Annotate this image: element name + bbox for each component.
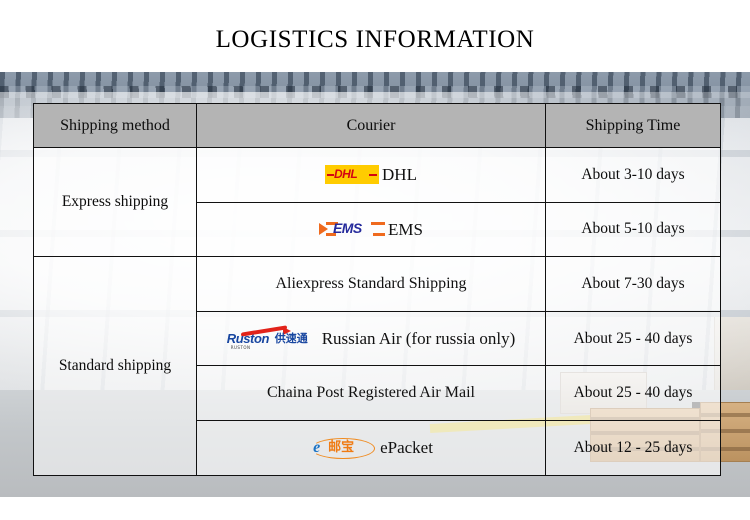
shipping-time-cell: About 25 - 40 days [546,366,721,421]
ruston-logo-subtext: RUSTON [231,345,251,350]
dhl-logo-dash-left [327,174,334,176]
shipping-time-cell: About 3-10 days [546,148,721,203]
courier-content: Aliexpress Standard Shipping [201,276,541,292]
ems-logo-bar [371,222,385,225]
ems-logo-bar [373,233,385,236]
courier-content: e 邮宝 ePacket [201,436,541,460]
table-head: Shipping method Courier Shipping Time [34,104,721,148]
logistics-table: Shipping method Courier Shipping Time Ex… [33,103,721,476]
courier-name: EMS [388,221,423,238]
shipping-time-cell: About 12 - 25 days [546,420,721,475]
ems-logo: EMS [319,219,385,239]
logistics-table-wrapper: Shipping method Courier Shipping Time Ex… [33,103,720,468]
courier-name: DHL [382,166,417,183]
courier-cell-china-post: Chaina Post Registered Air Mail [197,366,546,421]
table-header-row: Shipping method Courier Shipping Time [34,104,721,148]
header-courier: Courier [197,104,546,148]
page-title: LOGISTICS INFORMATION [0,26,750,54]
epacket-logo-chinese-text: 邮宝 [328,441,354,455]
shipping-time-cell: About 5-10 days [546,202,721,257]
method-express-shipping: Express shipping [34,148,197,257]
courier-content: Chaina Post Registered Air Mail [201,385,541,401]
method-standard-shipping: Standard shipping [34,257,197,475]
courier-name: Aliexpress Standard Shipping [275,276,466,292]
header-shipping-method: Shipping method [34,104,197,148]
courier-cell-epacket: e 邮宝 ePacket [197,420,546,475]
courier-name: Russian Air (for russia only) [322,330,516,347]
courier-content: Ruston 供速通 RUSTON Russian Air (for russi… [201,328,541,350]
courier-cell-ems: EMS EMS [197,202,546,257]
epacket-logo-e: e [313,439,320,456]
courier-name: ePacket [380,439,433,456]
table-row: Standard shipping Aliexpress Standard Sh… [34,257,721,312]
table-row: Express shipping DHL DHL About 3-10 days [34,148,721,203]
ruston-logo-chinese-text: 供速通 [275,333,308,345]
shipping-time-cell: About 7-30 days [546,257,721,312]
courier-name: Chaina Post Registered Air Mail [267,385,475,401]
header-shipping-time: Shipping Time [546,104,721,148]
ruston-logo: Ruston 供速通 RUSTON [227,328,319,350]
bottom-white-band [0,497,750,520]
epacket-logo: e 邮宝 [309,436,377,460]
table-body: Express shipping DHL DHL About 3-10 days [34,148,721,476]
ruston-logo-wordmark: Ruston [227,332,269,346]
logistics-information-banner: LOGISTICS INFORMATION Shipping method Co… [0,0,750,520]
courier-content: EMS EMS [201,219,541,239]
dhl-logo-dash-right [369,174,377,176]
courier-cell-aliexpress: Aliexpress Standard Shipping [197,257,546,312]
ems-logo-wordmark: EMS [333,221,362,236]
shipping-time-cell: About 25 - 40 days [546,311,721,366]
courier-cell-dhl: DHL DHL [197,148,546,203]
dhl-logo-wordmark: DHL [334,168,357,181]
courier-cell-russian-air: Ruston 供速通 RUSTON Russian Air (for russi… [197,311,546,366]
courier-content: DHL DHL [201,165,541,184]
dhl-logo: DHL [325,165,379,184]
